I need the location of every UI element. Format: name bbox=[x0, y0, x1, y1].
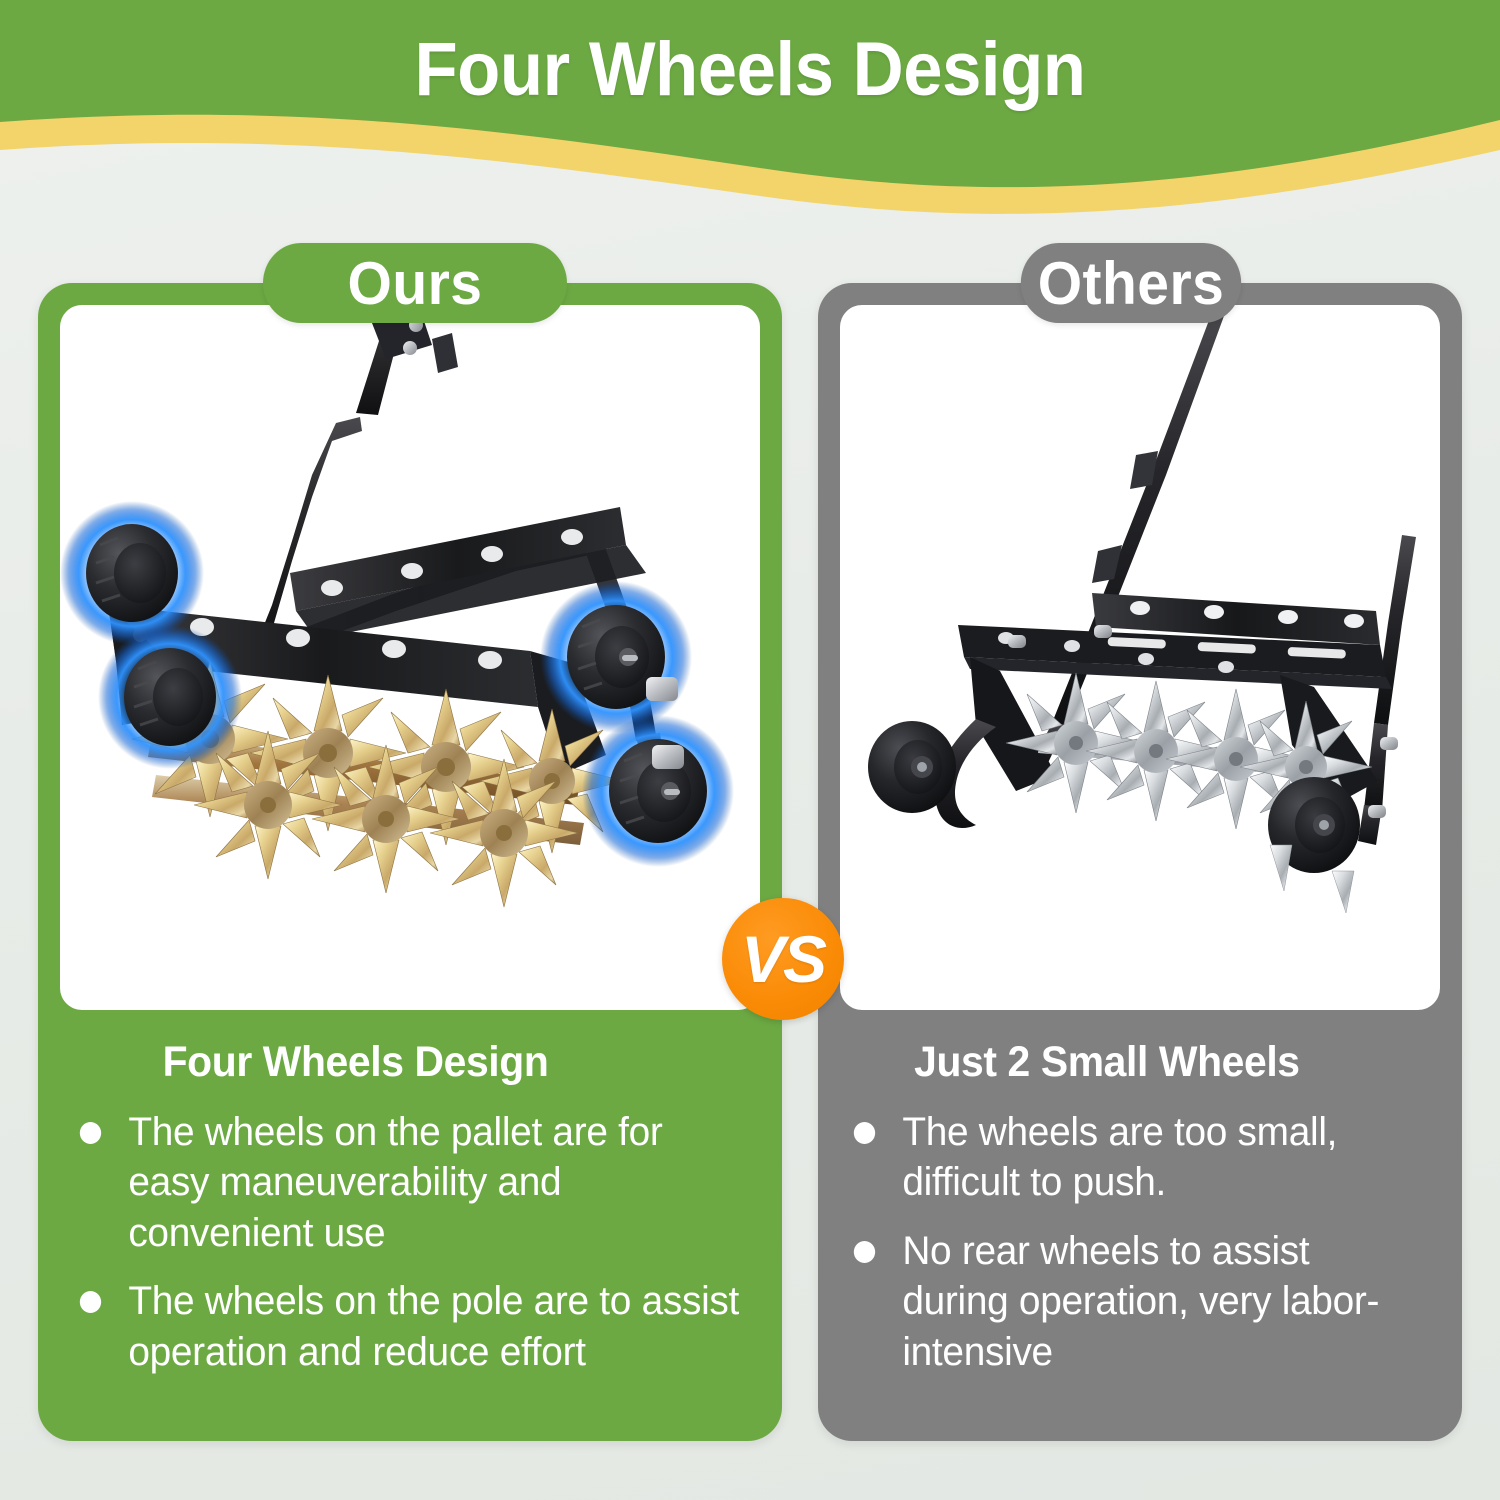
lawn-aerator-four-wheels-illustration bbox=[60, 305, 760, 1010]
bullet-dot-icon bbox=[854, 1122, 875, 1144]
ours-bullet-list: The wheels on the pallet are for easy ma… bbox=[60, 1107, 760, 1377]
bullet-dot-icon bbox=[80, 1122, 101, 1144]
ours-feature-heading: Four Wheels Design bbox=[60, 1038, 725, 1087]
wheel-rear-right bbox=[540, 581, 692, 733]
list-item: The wheels are too small, difficult to p… bbox=[848, 1107, 1422, 1208]
infographic-page: Four Wheels Design bbox=[0, 0, 1500, 1500]
bullet-text: No rear wheels to assist during operatio… bbox=[902, 1229, 1379, 1374]
others-feature-heading: Just 2 Small Wheels bbox=[840, 1038, 1410, 1087]
others-badge: Others bbox=[1021, 243, 1241, 323]
others-bullet-list: The wheels are too small, difficult to p… bbox=[840, 1107, 1440, 1377]
list-item: The wheels on the pallet are for easy ma… bbox=[74, 1107, 739, 1258]
comparison-area: Four Wheels Design The wheels on the pal… bbox=[0, 0, 1500, 1500]
ours-badge: Ours bbox=[263, 243, 567, 323]
wheel-front-left-lower bbox=[98, 625, 242, 769]
others-product-photo bbox=[840, 305, 1440, 1010]
bullet-text: The wheels on the pallet are for easy ma… bbox=[128, 1110, 662, 1255]
wheel-front-left bbox=[60, 501, 204, 645]
vs-badge: VS bbox=[722, 898, 844, 1020]
lawn-aerator-two-wheels-illustration bbox=[840, 305, 1440, 1010]
list-item: No rear wheels to assist during operatio… bbox=[848, 1226, 1422, 1377]
bullet-dot-icon bbox=[854, 1241, 875, 1263]
bullet-text: The wheels are too small, difficult to p… bbox=[902, 1110, 1337, 1204]
list-item: The wheels on the pole are to assist ope… bbox=[74, 1276, 739, 1377]
others-card: Just 2 Small Wheels The wheels are too s… bbox=[818, 283, 1462, 1441]
vs-label: VS bbox=[741, 921, 825, 997]
ours-product-photo bbox=[60, 305, 760, 1010]
bullet-text: The wheels on the pole are to assist ope… bbox=[128, 1279, 739, 1373]
wheel-rear-right-lower bbox=[582, 715, 734, 867]
wheel-small-front bbox=[868, 721, 956, 813]
bullet-dot-icon bbox=[80, 1291, 101, 1313]
ours-card: Four Wheels Design The wheels on the pal… bbox=[38, 283, 782, 1441]
page-title: Four Wheels Design bbox=[53, 26, 1448, 113]
